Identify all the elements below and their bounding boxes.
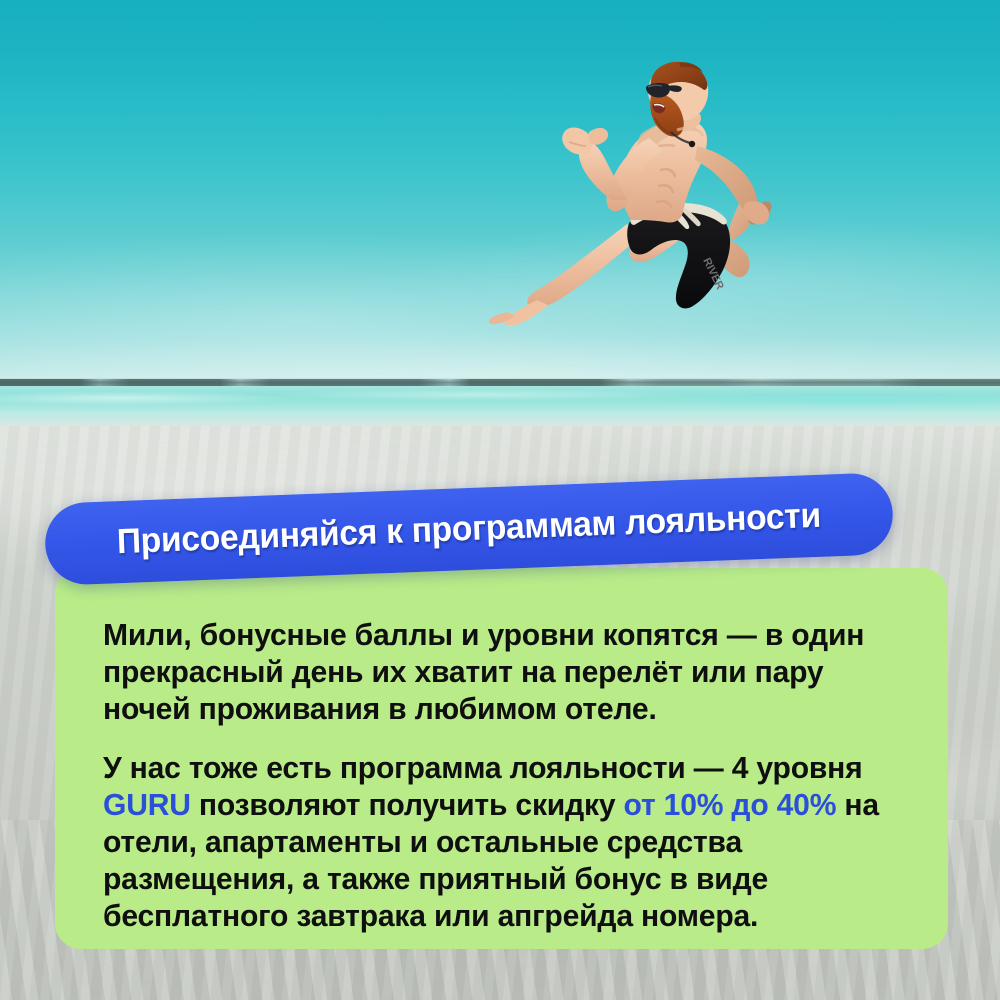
discount-range: от 10% до 40% <box>624 787 837 822</box>
banner-title: Присоединяйся к программам лояльности <box>116 496 821 562</box>
jumping-man-photo: RIVER <box>445 60 785 325</box>
promo-slide: RIVER <box>0 0 1000 1000</box>
brand-guru: GURU <box>103 787 191 822</box>
paragraph-1: Мили, бонусные баллы и уровни копятся — … <box>103 616 890 727</box>
water-sparkle <box>0 386 1000 426</box>
paragraph-2: У нас тоже есть программа лояльности — 4… <box>103 749 890 934</box>
paragraph-2-part-2: позволяют получить скидку <box>191 787 624 822</box>
paragraph-2-part-1: У нас тоже есть программа лояльности — 4… <box>103 750 863 785</box>
info-panel-body: Мили, бонусные баллы и уровни копятся — … <box>103 616 914 934</box>
info-panel: Мили, бонусные баллы и уровни копятся — … <box>55 568 948 949</box>
